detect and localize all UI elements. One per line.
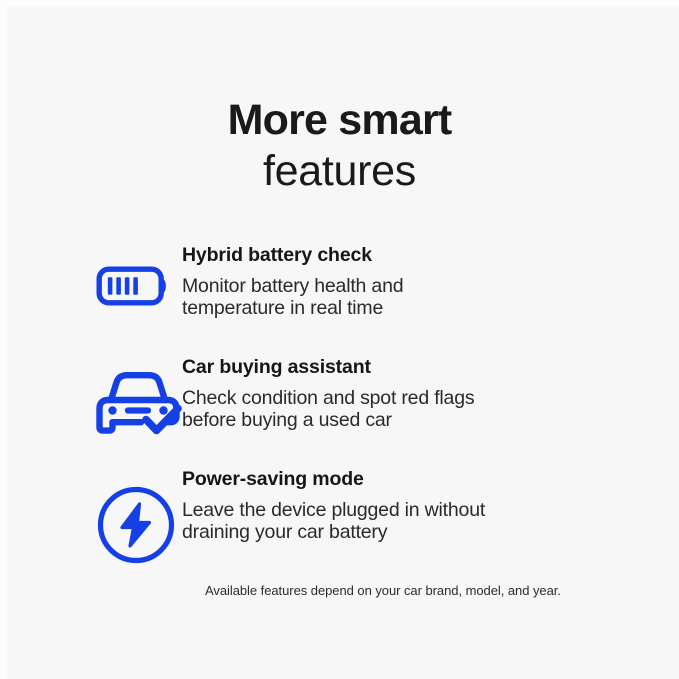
battery-icon — [96, 243, 182, 307]
list-item: Hybrid battery check Monitor battery hea… — [0, 243, 679, 343]
footnote: Available features depend on your car br… — [205, 582, 561, 600]
feature-description: Check condition and spot red flags befor… — [182, 388, 679, 431]
page-title: More smart features — [0, 95, 679, 196]
car-check-icon — [96, 355, 182, 441]
promo-panel: More smart features Hybrid battery check… — [0, 0, 679, 679]
feature-description: Monitor battery health and temperature i… — [182, 276, 679, 319]
feature-title: Hybrid battery check — [182, 243, 679, 267]
power-bolt-icon — [96, 467, 182, 565]
list-item: Car buying assistant Check condition and… — [0, 355, 679, 455]
feature-title: Car buying assistant — [182, 355, 679, 379]
list-item: Power-saving mode Leave the device plugg… — [0, 467, 679, 567]
feature-description: Leave the device plugged in without drai… — [182, 500, 679, 543]
top-edge-strip — [0, 0, 679, 7]
feature-text: Hybrid battery check Monitor battery hea… — [182, 243, 679, 319]
page-title-line2: features — [0, 146, 679, 196]
feature-text: Car buying assistant Check condition and… — [182, 355, 679, 431]
feature-list: Hybrid battery check Monitor battery hea… — [0, 243, 679, 567]
feature-text: Power-saving mode Leave the device plugg… — [182, 467, 679, 543]
page-title-line1: More smart — [0, 95, 679, 145]
feature-title: Power-saving mode — [182, 467, 679, 491]
